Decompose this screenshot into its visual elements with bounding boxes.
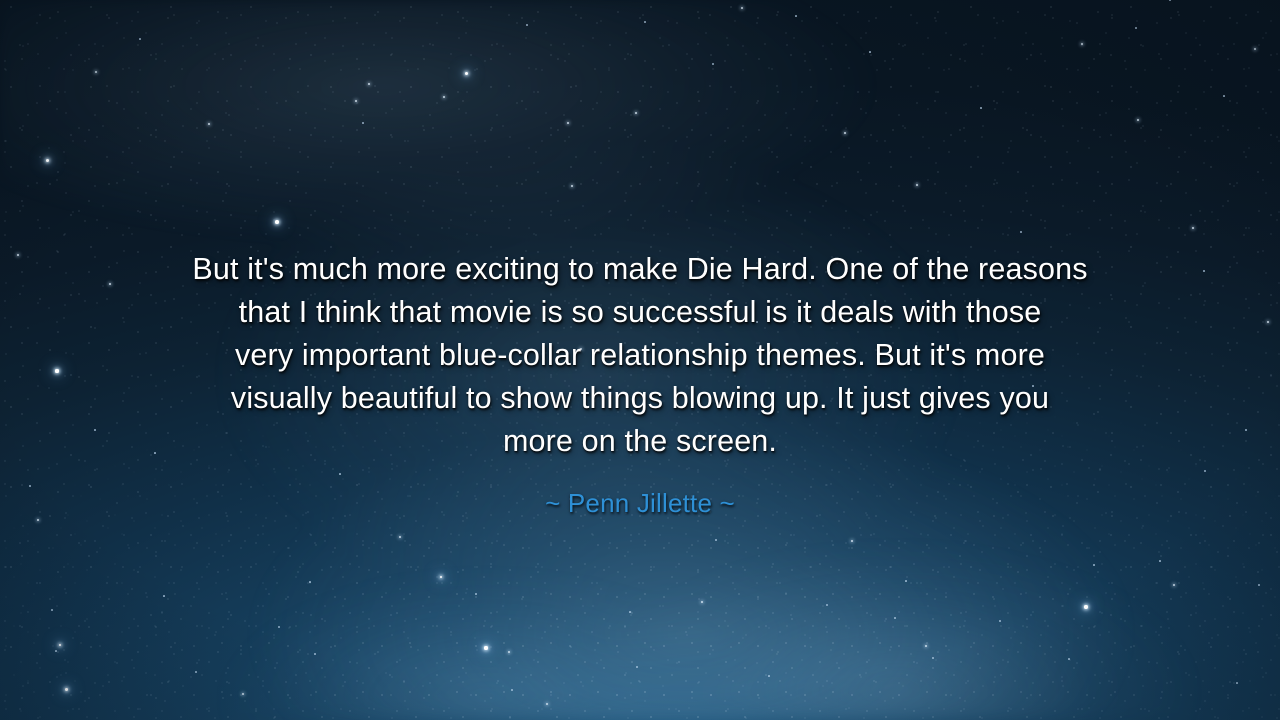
star xyxy=(95,71,97,73)
star xyxy=(635,112,637,114)
star xyxy=(629,611,631,613)
star xyxy=(795,15,797,17)
star xyxy=(65,688,68,691)
star xyxy=(195,671,197,673)
star xyxy=(869,51,871,53)
star xyxy=(768,675,770,677)
star xyxy=(1159,560,1161,562)
star xyxy=(1093,564,1095,566)
star xyxy=(741,7,743,9)
star xyxy=(484,646,487,649)
star xyxy=(932,657,934,659)
star xyxy=(508,651,510,653)
star xyxy=(440,576,443,579)
star xyxy=(399,536,401,538)
star xyxy=(916,184,918,186)
star xyxy=(309,581,311,583)
star xyxy=(511,689,513,691)
star xyxy=(362,122,364,124)
star xyxy=(1020,231,1022,233)
star xyxy=(37,519,39,521)
star xyxy=(546,703,548,705)
quote-text: But it's much more exciting to make Die … xyxy=(56,248,1224,463)
star xyxy=(443,96,445,98)
star xyxy=(644,21,646,23)
star xyxy=(1192,227,1194,229)
star xyxy=(46,159,49,162)
star xyxy=(1081,43,1083,45)
star xyxy=(844,132,846,134)
star xyxy=(905,580,907,582)
star xyxy=(355,100,357,102)
star xyxy=(51,609,53,611)
star xyxy=(314,653,316,655)
star xyxy=(1068,658,1070,660)
star xyxy=(1223,95,1225,97)
star xyxy=(571,185,573,187)
star xyxy=(1084,605,1087,608)
star xyxy=(1135,27,1137,29)
star xyxy=(826,604,828,606)
quote-author: ~ Penn Jillette ~ xyxy=(56,463,1224,519)
star xyxy=(851,540,853,542)
star xyxy=(275,220,279,224)
star xyxy=(712,63,714,65)
star xyxy=(368,83,370,85)
star xyxy=(567,122,569,124)
star xyxy=(526,24,528,26)
star xyxy=(139,38,141,40)
star xyxy=(242,693,244,695)
star xyxy=(163,595,165,597)
quote-image-canvas: But it's much more exciting to make Die … xyxy=(0,0,1280,720)
star xyxy=(55,650,57,652)
star xyxy=(1173,584,1175,586)
star xyxy=(59,644,62,647)
star xyxy=(980,107,982,109)
quote-block: But it's much more exciting to make Die … xyxy=(0,248,1280,519)
star xyxy=(701,601,703,603)
star xyxy=(894,617,896,619)
star xyxy=(1258,584,1260,586)
star xyxy=(465,72,468,75)
star xyxy=(1169,0,1171,1)
star xyxy=(715,539,717,541)
star xyxy=(636,666,638,668)
star xyxy=(999,620,1001,622)
star xyxy=(925,645,927,647)
star xyxy=(1236,682,1238,684)
star xyxy=(208,123,210,125)
star xyxy=(1254,48,1256,50)
star xyxy=(278,626,280,628)
star xyxy=(1137,119,1139,121)
star xyxy=(475,593,477,595)
